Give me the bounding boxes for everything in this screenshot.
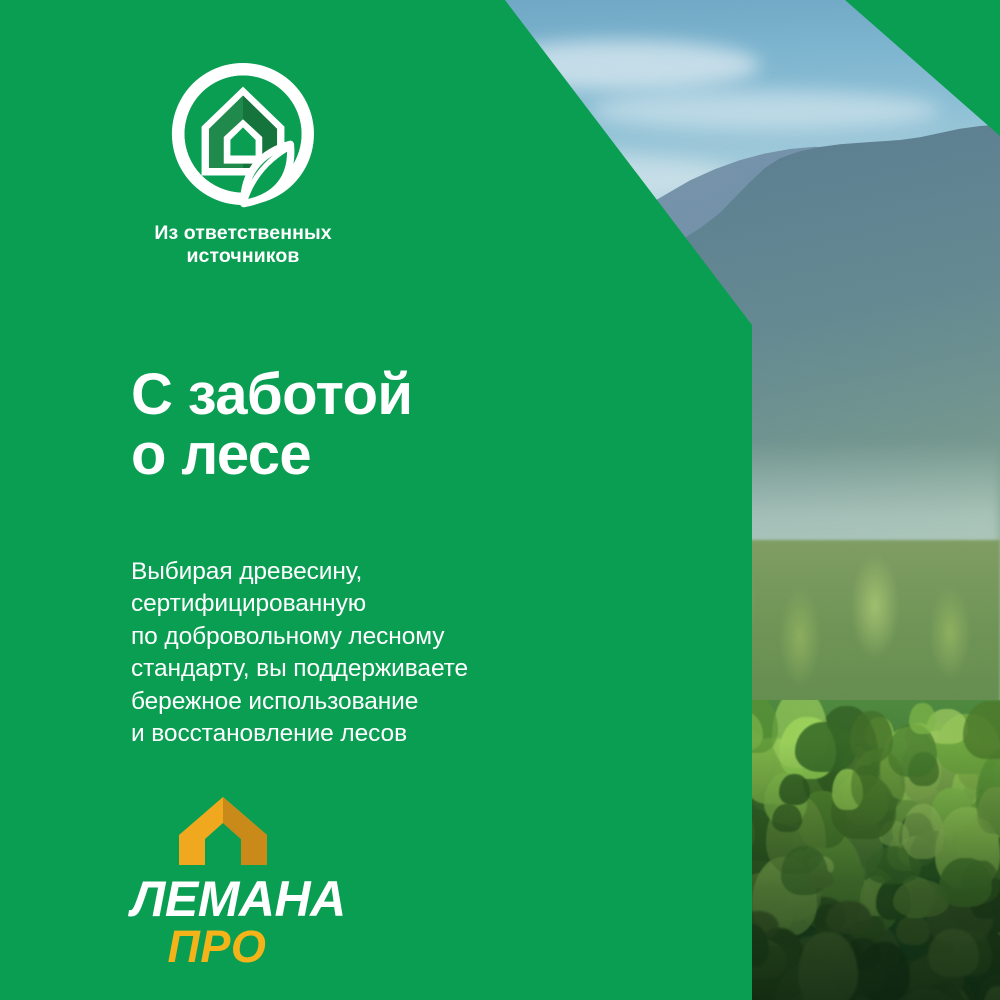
brand-name: ЛЕМАНА [131,875,381,924]
responsible-sources-emblem-icon [169,60,317,208]
brand-subname: ПРО [131,924,303,969]
brand-lockup: ЛЕМАНА ПРО [131,795,381,969]
responsible-sources-caption: Из ответственных источников [128,222,358,267]
poster: Из ответственных источников С заботой о … [0,0,1000,1000]
content-area: Из ответственных источников С заботой о … [0,0,752,1000]
responsible-sources-badge: Из ответственных источников [128,60,358,267]
body-copy: Выбирая древесину, сертифицированную по … [131,556,691,751]
page-title: С заботой о лесе [131,365,691,486]
lemana-house-icon [175,795,271,867]
